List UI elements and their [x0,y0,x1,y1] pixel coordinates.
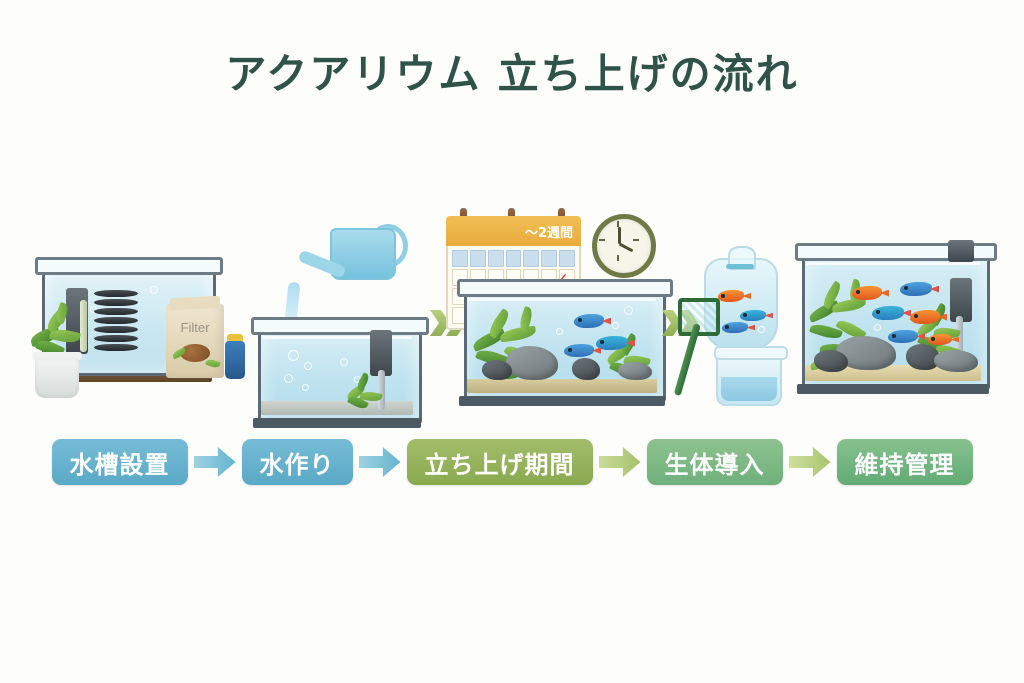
fish [564,344,594,357]
calendar-cell [488,250,504,267]
clock-tick [617,221,619,227]
stage-2-illustration [246,218,426,408]
step-badge-2[interactable]: 水作り [242,439,353,485]
fish [852,286,882,300]
cycling-tank [464,288,660,396]
step-arrow-4 [789,447,831,477]
rock [934,350,978,372]
bubble-icon [624,306,633,315]
filter-media-stack [94,290,138,353]
bucket-rim [714,346,788,360]
step-arrow-1 [194,447,236,477]
bucket-water [721,377,777,401]
media-ring [94,326,138,333]
calendar-cell [470,250,486,267]
clock-minute-hand [619,243,634,253]
bubble-icon [612,322,619,329]
media-ring [94,290,138,297]
illustration-band: Filter [0,170,1024,430]
clock-hour-hand [618,227,621,244]
tank-base [253,418,421,428]
media-ring [94,299,138,306]
step-badge-3[interactable]: 立ち上げ期間 [407,439,593,485]
calendar-cell [506,250,522,267]
bottle-body [225,341,245,379]
bubble-icon [288,350,299,361]
stage-1-illustration: Filter [24,248,239,408]
tank-rim [457,279,673,297]
bubble-icon [302,384,309,391]
water-bucket [716,350,782,406]
bubble-icon [284,374,293,383]
media-ring [94,335,138,342]
substrate [261,401,413,415]
rock [506,346,558,380]
tank-rim [35,257,223,275]
bubble-icon [150,286,158,294]
calendar-cell [559,250,575,267]
fish [910,310,940,324]
fish [928,334,952,345]
filter-supply-bag: Filter [166,304,224,378]
calendar-cell [541,250,557,267]
rock [482,360,512,380]
rock [814,350,848,372]
bag-leaf-icon [205,358,221,369]
flower-pot [35,358,79,398]
calendar-row [452,250,575,267]
step-arrow-2 [359,447,401,477]
bubble-icon [556,328,563,335]
calendar-cell [523,250,539,267]
media-ring [94,344,138,351]
calendar-header-text: ～2週間 [525,222,573,241]
step-arrow-3 [599,447,641,477]
water-line [468,298,656,301]
plant-leaf [355,372,371,392]
rock [618,362,652,380]
fish [740,310,766,321]
fish [872,306,904,320]
step-badge-4[interactable]: 生体導入 [647,439,783,485]
potted-plant [28,308,88,368]
tank-base [459,396,665,406]
page-title: アクアリウム 立ち上げの流れ [0,40,1024,100]
rock [572,358,600,380]
calendar-header: ～2週間 [446,216,581,246]
hang-on-filter [948,240,974,262]
fish [574,314,604,328]
aquatic-plant [344,374,384,412]
tank-base [797,384,989,394]
bubble-icon [758,326,765,333]
wall-clock-icon [592,214,656,278]
bubble-icon [340,358,348,366]
clock-tick [633,239,639,241]
water-fill-tank [258,326,416,418]
bag-label: Filter [166,320,224,335]
stage-3-illustration: ～2週間 [446,208,676,408]
calendar-cell [452,250,468,267]
fish [900,282,932,296]
media-ring [94,308,138,315]
watering-can [304,218,414,288]
process-step-row: 水槽設置 水作り 立ち上げ期間 生体導入 維持管理 [0,436,1024,488]
clock-tick [617,255,619,261]
stage-4-illustration [676,242,796,410]
bubble-icon [304,362,312,370]
water-line [806,262,980,265]
bubble-icon [874,324,881,331]
established-tank [802,252,984,384]
bag-top-fold [170,296,220,311]
tank-rim [251,317,429,335]
media-ring [94,317,138,324]
fish [888,330,918,343]
step-badge-1[interactable]: 水槽設置 [52,439,188,485]
clock-tick [599,239,605,241]
stage-5-illustration [796,244,996,408]
step-badge-5[interactable]: 維持管理 [837,439,973,485]
bag-tie [726,264,754,269]
